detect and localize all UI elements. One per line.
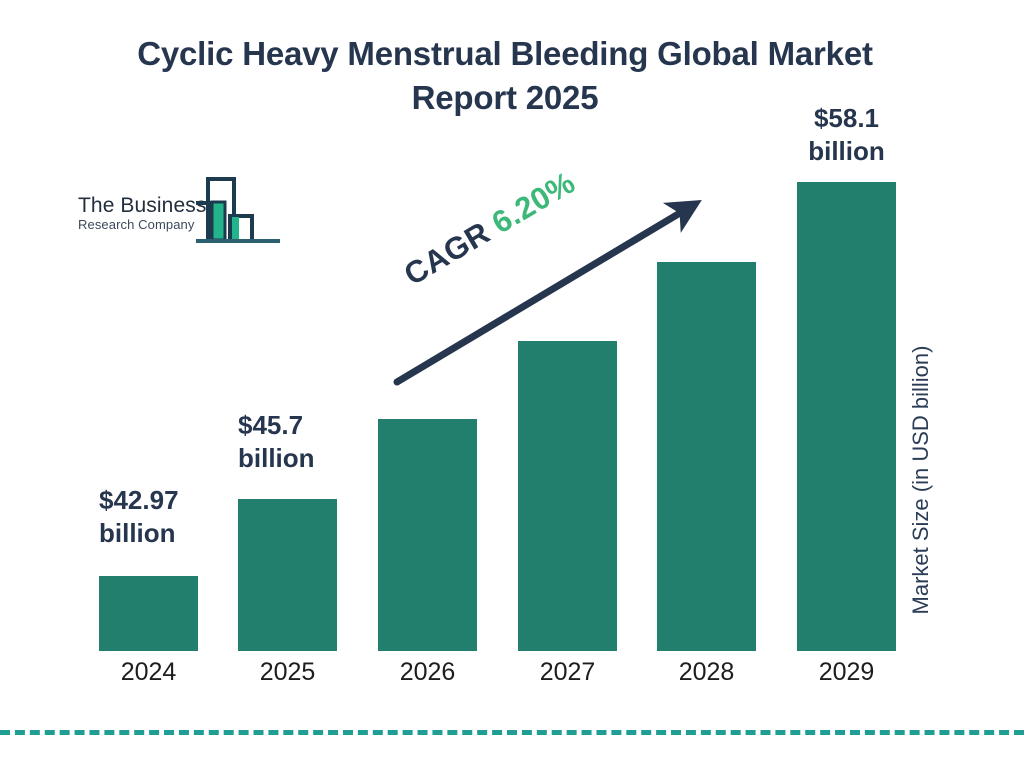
bar-value-label-2024: $42.97 billion [99, 484, 179, 551]
bottom-divider [0, 730, 1024, 735]
x-tick-label-2024: 2024 [99, 658, 198, 687]
x-tick-label-2025: 2025 [238, 658, 337, 687]
bar-2028 [657, 262, 756, 651]
bar-value-amount-2025: $45.7 [238, 409, 315, 442]
bar-2029 [797, 182, 896, 651]
bar-value-amount-2029: $58.1 [800, 102, 893, 135]
infographic-root: Cyclic Heavy Menstrual Bleeding Global M… [0, 0, 1024, 768]
y-axis-title: Market Size (in USD billion) [908, 300, 934, 660]
bar-value-label-2029: $58.1 billion [800, 102, 893, 169]
bar-value-unit-2024: billion [99, 517, 179, 550]
x-tick-label-2028: 2028 [657, 658, 756, 687]
bar-value-unit-2025: billion [238, 442, 315, 475]
bar-2025 [238, 499, 337, 651]
bar-2026 [378, 419, 477, 651]
bar-value-unit-2029: billion [800, 135, 893, 168]
chart-plot-area: $42.97 billion 2024 $45.7 billion 2025 2… [0, 0, 1024, 768]
bar-2027 [518, 341, 617, 651]
x-tick-label-2027: 2027 [518, 658, 617, 687]
x-tick-label-2026: 2026 [378, 658, 477, 687]
bar-2024 [99, 576, 198, 651]
x-tick-label-2029: 2029 [797, 658, 896, 687]
bar-value-amount-2024: $42.97 [99, 484, 179, 517]
bar-value-label-2025: $45.7 billion [238, 409, 315, 476]
